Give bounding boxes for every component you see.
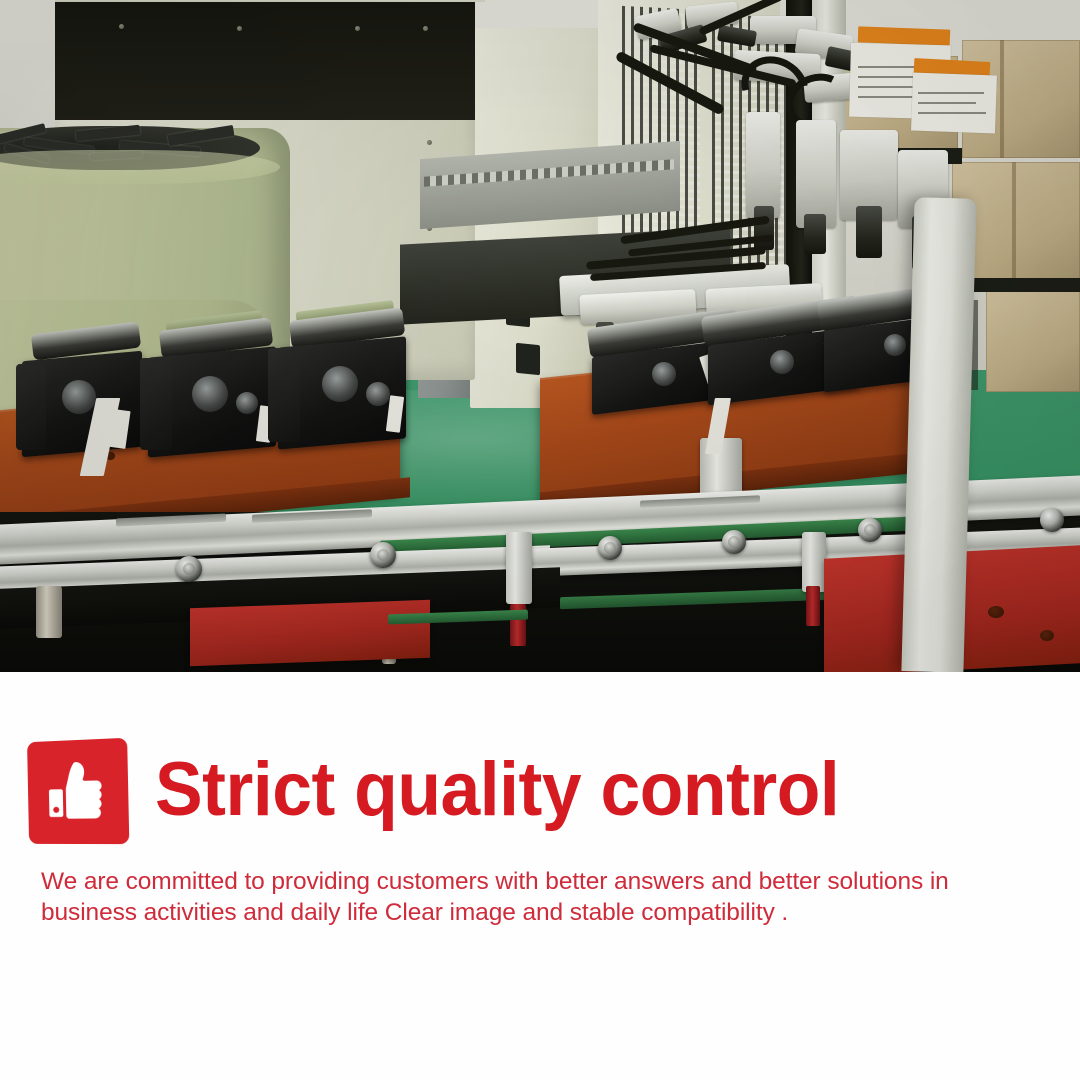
thumbs-up-icon: [27, 738, 129, 844]
hero-photo: [0, 0, 1080, 672]
page-title: Strict quality control: [155, 748, 839, 832]
feature-description: We are committed to providing customers …: [41, 866, 981, 928]
photo-vignette: [0, 0, 1080, 672]
promo-page: Strict quality control We are committed …: [0, 0, 1080, 1080]
